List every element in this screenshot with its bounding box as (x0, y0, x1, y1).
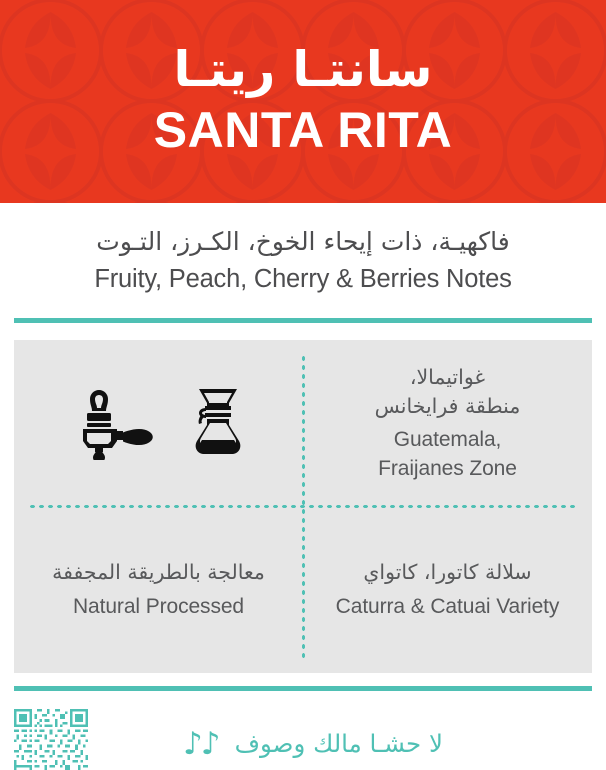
qr-code[interactable] (14, 709, 88, 770)
cell-variety: سلالة كاتورا، كاتواي Caturra & Catuai Va… (303, 507, 592, 674)
tasting-notes-arabic: فاكهيـة، ذات إيحاء الخوخ، الكـرز، التـوت (14, 225, 592, 260)
chemex-pourover-icon (192, 386, 244, 460)
cell-brew-methods (14, 340, 303, 507)
variety-english: Caturra & Catuai Variety (336, 593, 560, 622)
title-arabic: سانتـا ريتـا (0, 40, 606, 100)
title-english: SANTA RITA (0, 101, 606, 159)
process-arabic: معالجة بالطريقة المجففة (52, 558, 265, 587)
process-english: Natural Processed (73, 593, 244, 622)
brew-method-icons (74, 386, 244, 460)
header-banner: سانتـا ريتـا SANTA RITA (0, 0, 606, 203)
cell-origin: غواتيمالا، منطقة فرايخانس Guatemala, Fra… (303, 340, 592, 507)
music-note-icon: ♪♪ (183, 729, 219, 760)
footer-text-arabic: لا حشـا مالك وصوف (235, 728, 443, 760)
coffee-label-card: سانتـا ريتـا SANTA RITA فاكهيـة، ذات إيح… (0, 0, 606, 770)
divider-rule-bottom (14, 686, 592, 691)
info-panel: غواتيمالا، منطقة فرايخانس Guatemala, Fra… (14, 340, 592, 673)
tasting-notes-english: Fruity, Peach, Cherry & Berries Notes (14, 263, 592, 297)
origin-english-line1: Guatemala, (394, 426, 502, 455)
origin-arabic-line2: منطقة فرايخانس (375, 392, 521, 421)
divider-rule-top (14, 318, 592, 323)
tasting-notes: فاكهيـة، ذات إيحاء الخوخ، الكـرز، التـوت… (0, 203, 606, 296)
origin-english-line2: Fraijanes Zone (378, 455, 517, 484)
variety-arabic: سلالة كاتورا، كاتواي (363, 558, 531, 587)
origin-arabic-line1: غواتيمالا، (410, 363, 485, 392)
portafilter-tamper-icon (74, 386, 158, 460)
footer: ♪♪ لا حشـا مالك وصوف (14, 705, 592, 770)
cell-process: معالجة بالطريقة المجففة Natural Processe… (14, 507, 303, 674)
footer-content: ♪♪ لا حشـا مالك وصوف (88, 728, 592, 760)
